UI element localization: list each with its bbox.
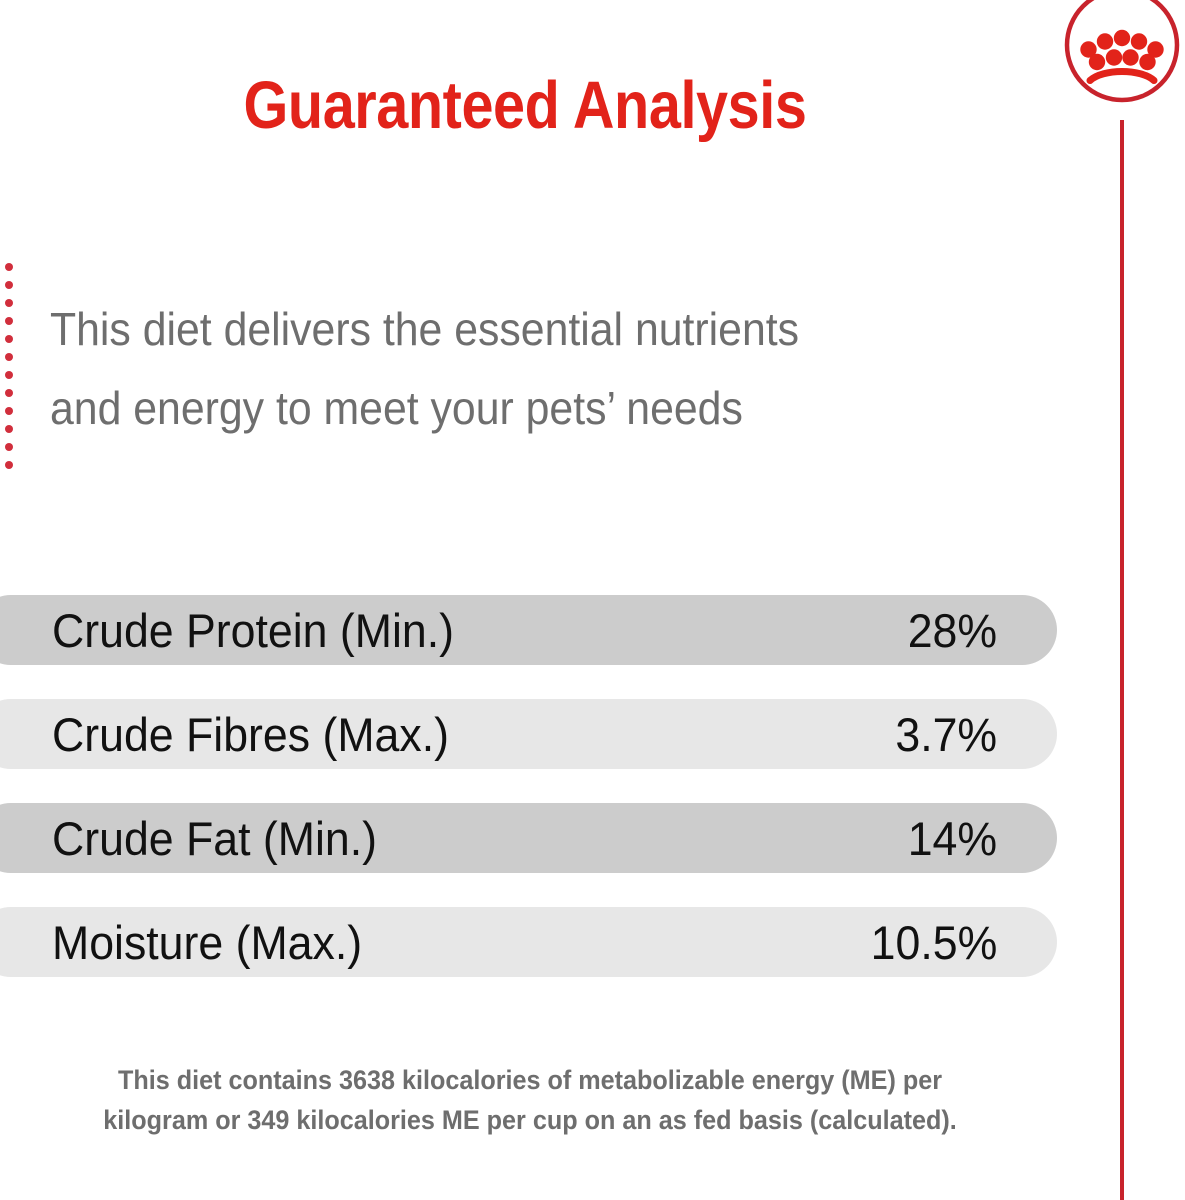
accent-dot (5, 461, 13, 469)
nutrient-value: 10.5% (870, 919, 997, 966)
page-title: Guaranteed Analysis (74, 72, 977, 139)
accent-dot (5, 389, 13, 397)
royal-canin-crown-logo (1063, 0, 1181, 104)
nutrient-value: 14% (908, 815, 997, 862)
nutrient-value: 28% (908, 607, 997, 654)
nutrient-label: Crude Protein (Min.) (52, 607, 860, 654)
accent-dot (5, 443, 13, 451)
table-row: Moisture (Max.) 10.5% (0, 907, 1057, 977)
guaranteed-analysis-panel: Guaranteed Analysis This diet delivers t… (0, 0, 1185, 1200)
accent-dot (5, 335, 13, 343)
table-row: Crude Fat (Min.) 14% (0, 803, 1057, 873)
subtitle: This diet delivers the essential nutrien… (50, 290, 980, 448)
footnote-line-1: This diet contains 3638 kilocalories of … (46, 1060, 1015, 1100)
vertical-red-line (1120, 120, 1124, 1200)
nutrient-label: Crude Fibres (Max.) (52, 711, 848, 758)
calorie-content-footnote: This diet contains 3638 kilocalories of … (46, 1060, 1015, 1141)
accent-dot (5, 281, 13, 289)
table-row: Crude Protein (Min.) 28% (0, 595, 1057, 665)
accent-dot (5, 299, 13, 307)
footnote-line-2: kilogram or 349 kilocalories ME per cup … (46, 1100, 1015, 1140)
subtitle-line-2: and energy to meet your pets’ needs (50, 369, 980, 448)
nutrient-label: Moisture (Max.) (52, 919, 823, 966)
nutrient-label: Crude Fat (Min.) (52, 815, 860, 862)
subtitle-line-1: This diet delivers the essential nutrien… (50, 290, 980, 369)
accent-dot (5, 317, 13, 325)
accent-dot (5, 407, 13, 415)
accent-dot (5, 353, 13, 361)
guaranteed-analysis-table: Crude Protein (Min.) 28% Crude Fibres (M… (0, 595, 1057, 1011)
accent-dot (5, 371, 13, 379)
accent-dot (5, 425, 13, 433)
brand-rail (1050, 0, 1185, 1200)
dotted-accent-rail (5, 263, 14, 463)
nutrient-value: 3.7% (895, 711, 997, 758)
accent-dot (5, 263, 13, 271)
table-row: Crude Fibres (Max.) 3.7% (0, 699, 1057, 769)
